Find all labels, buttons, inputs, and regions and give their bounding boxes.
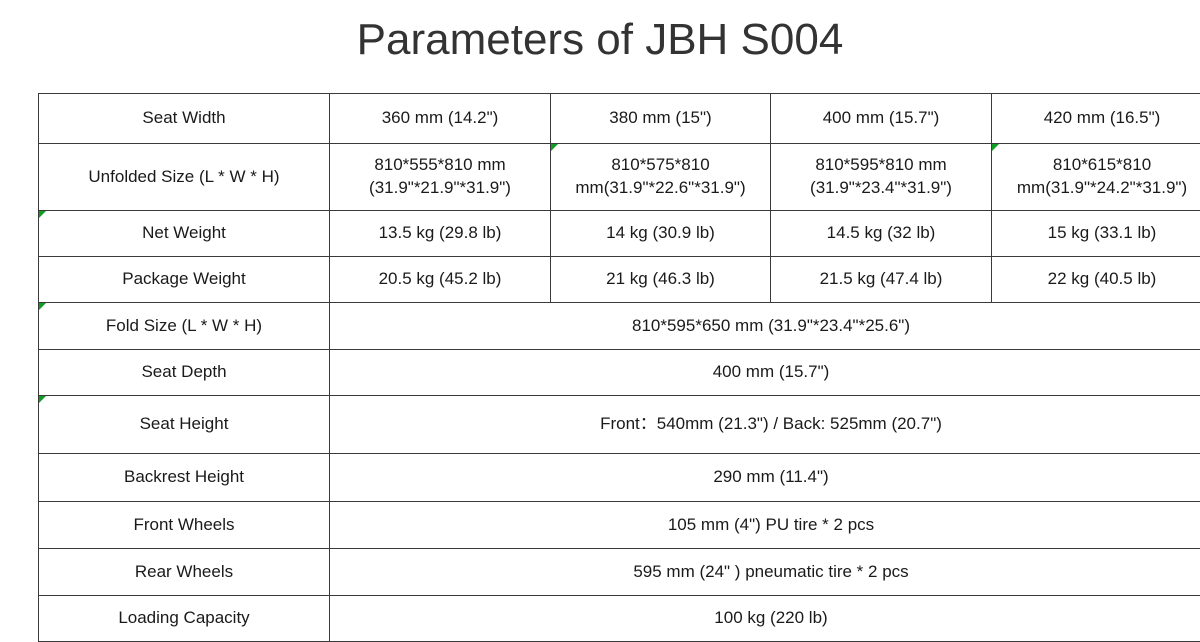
page-title: Parameters of JBH S004: [0, 10, 1200, 70]
row-label-text: Fold Size (L * W * H): [106, 316, 262, 335]
cell-net-weight-v1: 13.5 kg (29.8 lb): [330, 211, 551, 257]
cell-seat-width-v1: 360 mm (14.2"): [330, 94, 551, 144]
cell-line-2: (31.9"*21.9"*31.9"): [334, 177, 546, 200]
cell-line-2: mm(31.9"*24.2"*31.9"): [996, 177, 1200, 200]
row-label-package-weight: Package Weight: [39, 257, 330, 303]
row-label-backrest-height: Backrest Height: [39, 454, 330, 502]
cell-line-1: 810*555*810 mm: [334, 154, 546, 177]
table-row-seat-width: Seat Width 360 mm (14.2") 380 mm (15") 4…: [39, 94, 1200, 144]
table-row-seat-height: Seat Height Front：540mm (21.3") / Back: …: [39, 396, 1200, 454]
error-triangle-icon: [39, 396, 46, 403]
cell-seat-height-value: Front：540mm (21.3") / Back: 525mm (20.7"…: [330, 396, 1200, 454]
cell-net-weight-v4: 15 kg (33.1 lb): [992, 211, 1200, 257]
table-row-fold-size: Fold Size (L * W * H) 810*595*650 mm (31…: [39, 303, 1200, 350]
table-row-unfolded-size: Unfolded Size (L * W * H) 810*555*810 mm…: [39, 144, 1200, 211]
row-label-rear-wheels: Rear Wheels: [39, 549, 330, 596]
table-row-front-wheels: Front Wheels 105 mm (4") PU tire * 2 pcs: [39, 502, 1200, 549]
spec-table-container: Seat Width 360 mm (14.2") 380 mm (15") 4…: [38, 93, 1167, 642]
cell-line-1: 810*615*810: [996, 154, 1200, 177]
table-row-loading-capacity: Loading Capacity 100 kg (220 lb): [39, 596, 1200, 642]
cell-line-1: 810*575*810: [555, 154, 766, 177]
cell-package-weight-v1: 20.5 kg (45.2 lb): [330, 257, 551, 303]
cell-seat-depth-value: 400 mm (15.7"): [330, 350, 1200, 396]
row-label-text: Net Weight: [142, 223, 226, 242]
error-triangle-icon: [992, 144, 999, 151]
row-label-seat-width: Seat Width: [39, 94, 330, 144]
cell-seat-width-v3: 400 mm (15.7"): [771, 94, 992, 144]
row-label-text: Seat Height: [140, 414, 229, 433]
cell-unfolded-size-v1: 810*555*810 mm (31.9"*21.9"*31.9"): [330, 144, 551, 211]
row-label-loading-capacity: Loading Capacity: [39, 596, 330, 642]
table-row-package-weight: Package Weight 20.5 kg (45.2 lb) 21 kg (…: [39, 257, 1200, 303]
error-triangle-icon: [39, 211, 46, 218]
cell-package-weight-v2: 21 kg (46.3 lb): [551, 257, 771, 303]
cell-line-2: mm(31.9"*22.6"*31.9"): [555, 177, 766, 200]
cell-package-weight-v3: 21.5 kg (47.4 lb): [771, 257, 992, 303]
cell-package-weight-v4: 22 kg (40.5 lb): [992, 257, 1200, 303]
cell-net-weight-v2: 14 kg (30.9 lb): [551, 211, 771, 257]
cell-rear-wheels-value: 595 mm (24" ) pneumatic tire * 2 pcs: [330, 549, 1200, 596]
cell-fold-size-value: 810*595*650 mm (31.9"*23.4"*25.6"): [330, 303, 1200, 350]
row-label-unfolded-size: Unfolded Size (L * W * H): [39, 144, 330, 211]
cell-loading-capacity-value: 100 kg (220 lb): [330, 596, 1200, 642]
table-row-net-weight: Net Weight 13.5 kg (29.8 lb) 14 kg (30.9…: [39, 211, 1200, 257]
parameters-table: Seat Width 360 mm (14.2") 380 mm (15") 4…: [38, 93, 1200, 642]
row-label-seat-depth: Seat Depth: [39, 350, 330, 396]
table-row-seat-depth: Seat Depth 400 mm (15.7"): [39, 350, 1200, 396]
row-label-front-wheels: Front Wheels: [39, 502, 330, 549]
cell-unfolded-size-v4: 810*615*810 mm(31.9"*24.2"*31.9"): [992, 144, 1200, 211]
cell-net-weight-v3: 14.5 kg (32 lb): [771, 211, 992, 257]
cell-line-2: (31.9"*23.4"*31.9"): [775, 177, 987, 200]
error-triangle-icon: [39, 303, 46, 310]
cell-line-1: 810*595*810 mm: [775, 154, 987, 177]
cell-front-wheels-value: 105 mm (4") PU tire * 2 pcs: [330, 502, 1200, 549]
cell-backrest-height-value: 290 mm (11.4"): [330, 454, 1200, 502]
row-label-net-weight: Net Weight: [39, 211, 330, 257]
spec-sheet-page: Parameters of JBH S004 Seat Width 360 mm…: [0, 0, 1200, 600]
error-triangle-icon: [551, 144, 558, 151]
table-row-backrest-height: Backrest Height 290 mm (11.4"): [39, 454, 1200, 502]
cell-unfolded-size-v2: 810*575*810 mm(31.9"*22.6"*31.9"): [551, 144, 771, 211]
row-label-fold-size: Fold Size (L * W * H): [39, 303, 330, 350]
table-row-rear-wheels: Rear Wheels 595 mm (24" ) pneumatic tire…: [39, 549, 1200, 596]
cell-unfolded-size-v3: 810*595*810 mm (31.9"*23.4"*31.9"): [771, 144, 992, 211]
row-label-seat-height: Seat Height: [39, 396, 330, 454]
table-body: Seat Width 360 mm (14.2") 380 mm (15") 4…: [39, 94, 1200, 642]
cell-seat-width-v2: 380 mm (15"): [551, 94, 771, 144]
cell-seat-width-v4: 420 mm (16.5"): [992, 94, 1200, 144]
